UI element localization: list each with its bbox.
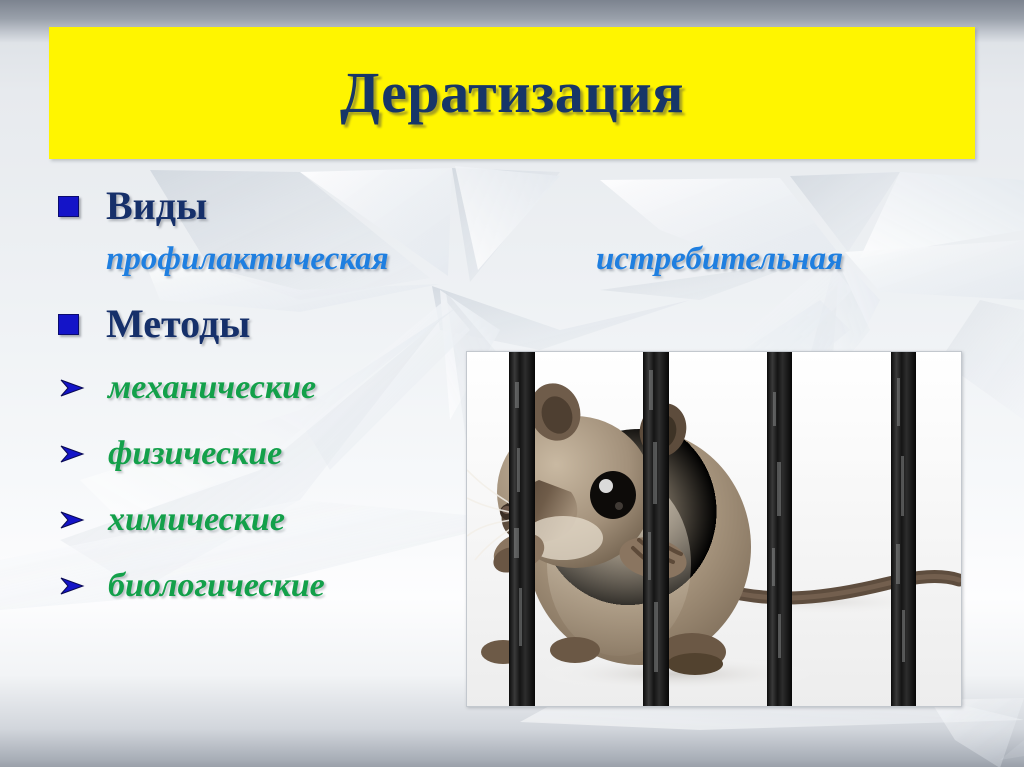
method-label-mechanical: механические — [108, 371, 316, 405]
page-title: Дератизация — [340, 64, 684, 122]
method-label-physical: физические — [108, 437, 282, 471]
section-methods: Методы — [0, 293, 1024, 355]
section-label-kinds: Виды — [106, 186, 207, 226]
section-label-methods: Методы — [106, 304, 250, 344]
mouse-behind-bars-photo — [466, 351, 962, 707]
arrow-bullet-icon — [58, 508, 86, 532]
kind-prophylactic: профилактическая — [106, 243, 389, 276]
title-banner: Дератизация — [49, 27, 975, 159]
method-label-chemical: химические — [108, 503, 285, 537]
kinds-row: профилактическая истребительная — [0, 237, 1024, 293]
arrow-bullet-icon — [58, 442, 86, 466]
kind-exterminative: истребительная — [596, 243, 843, 276]
square-bullet-icon — [58, 196, 79, 217]
presentation-slide: Дератизация Виды профилактическая истреб… — [0, 0, 1024, 767]
mouse-photo-illustration — [467, 352, 961, 706]
square-bullet-icon — [58, 314, 79, 335]
arrow-bullet-icon — [58, 574, 86, 598]
arrow-bullet-icon — [58, 376, 86, 400]
section-kinds: Виды — [0, 175, 1024, 237]
method-label-biological: биологические — [108, 569, 325, 603]
